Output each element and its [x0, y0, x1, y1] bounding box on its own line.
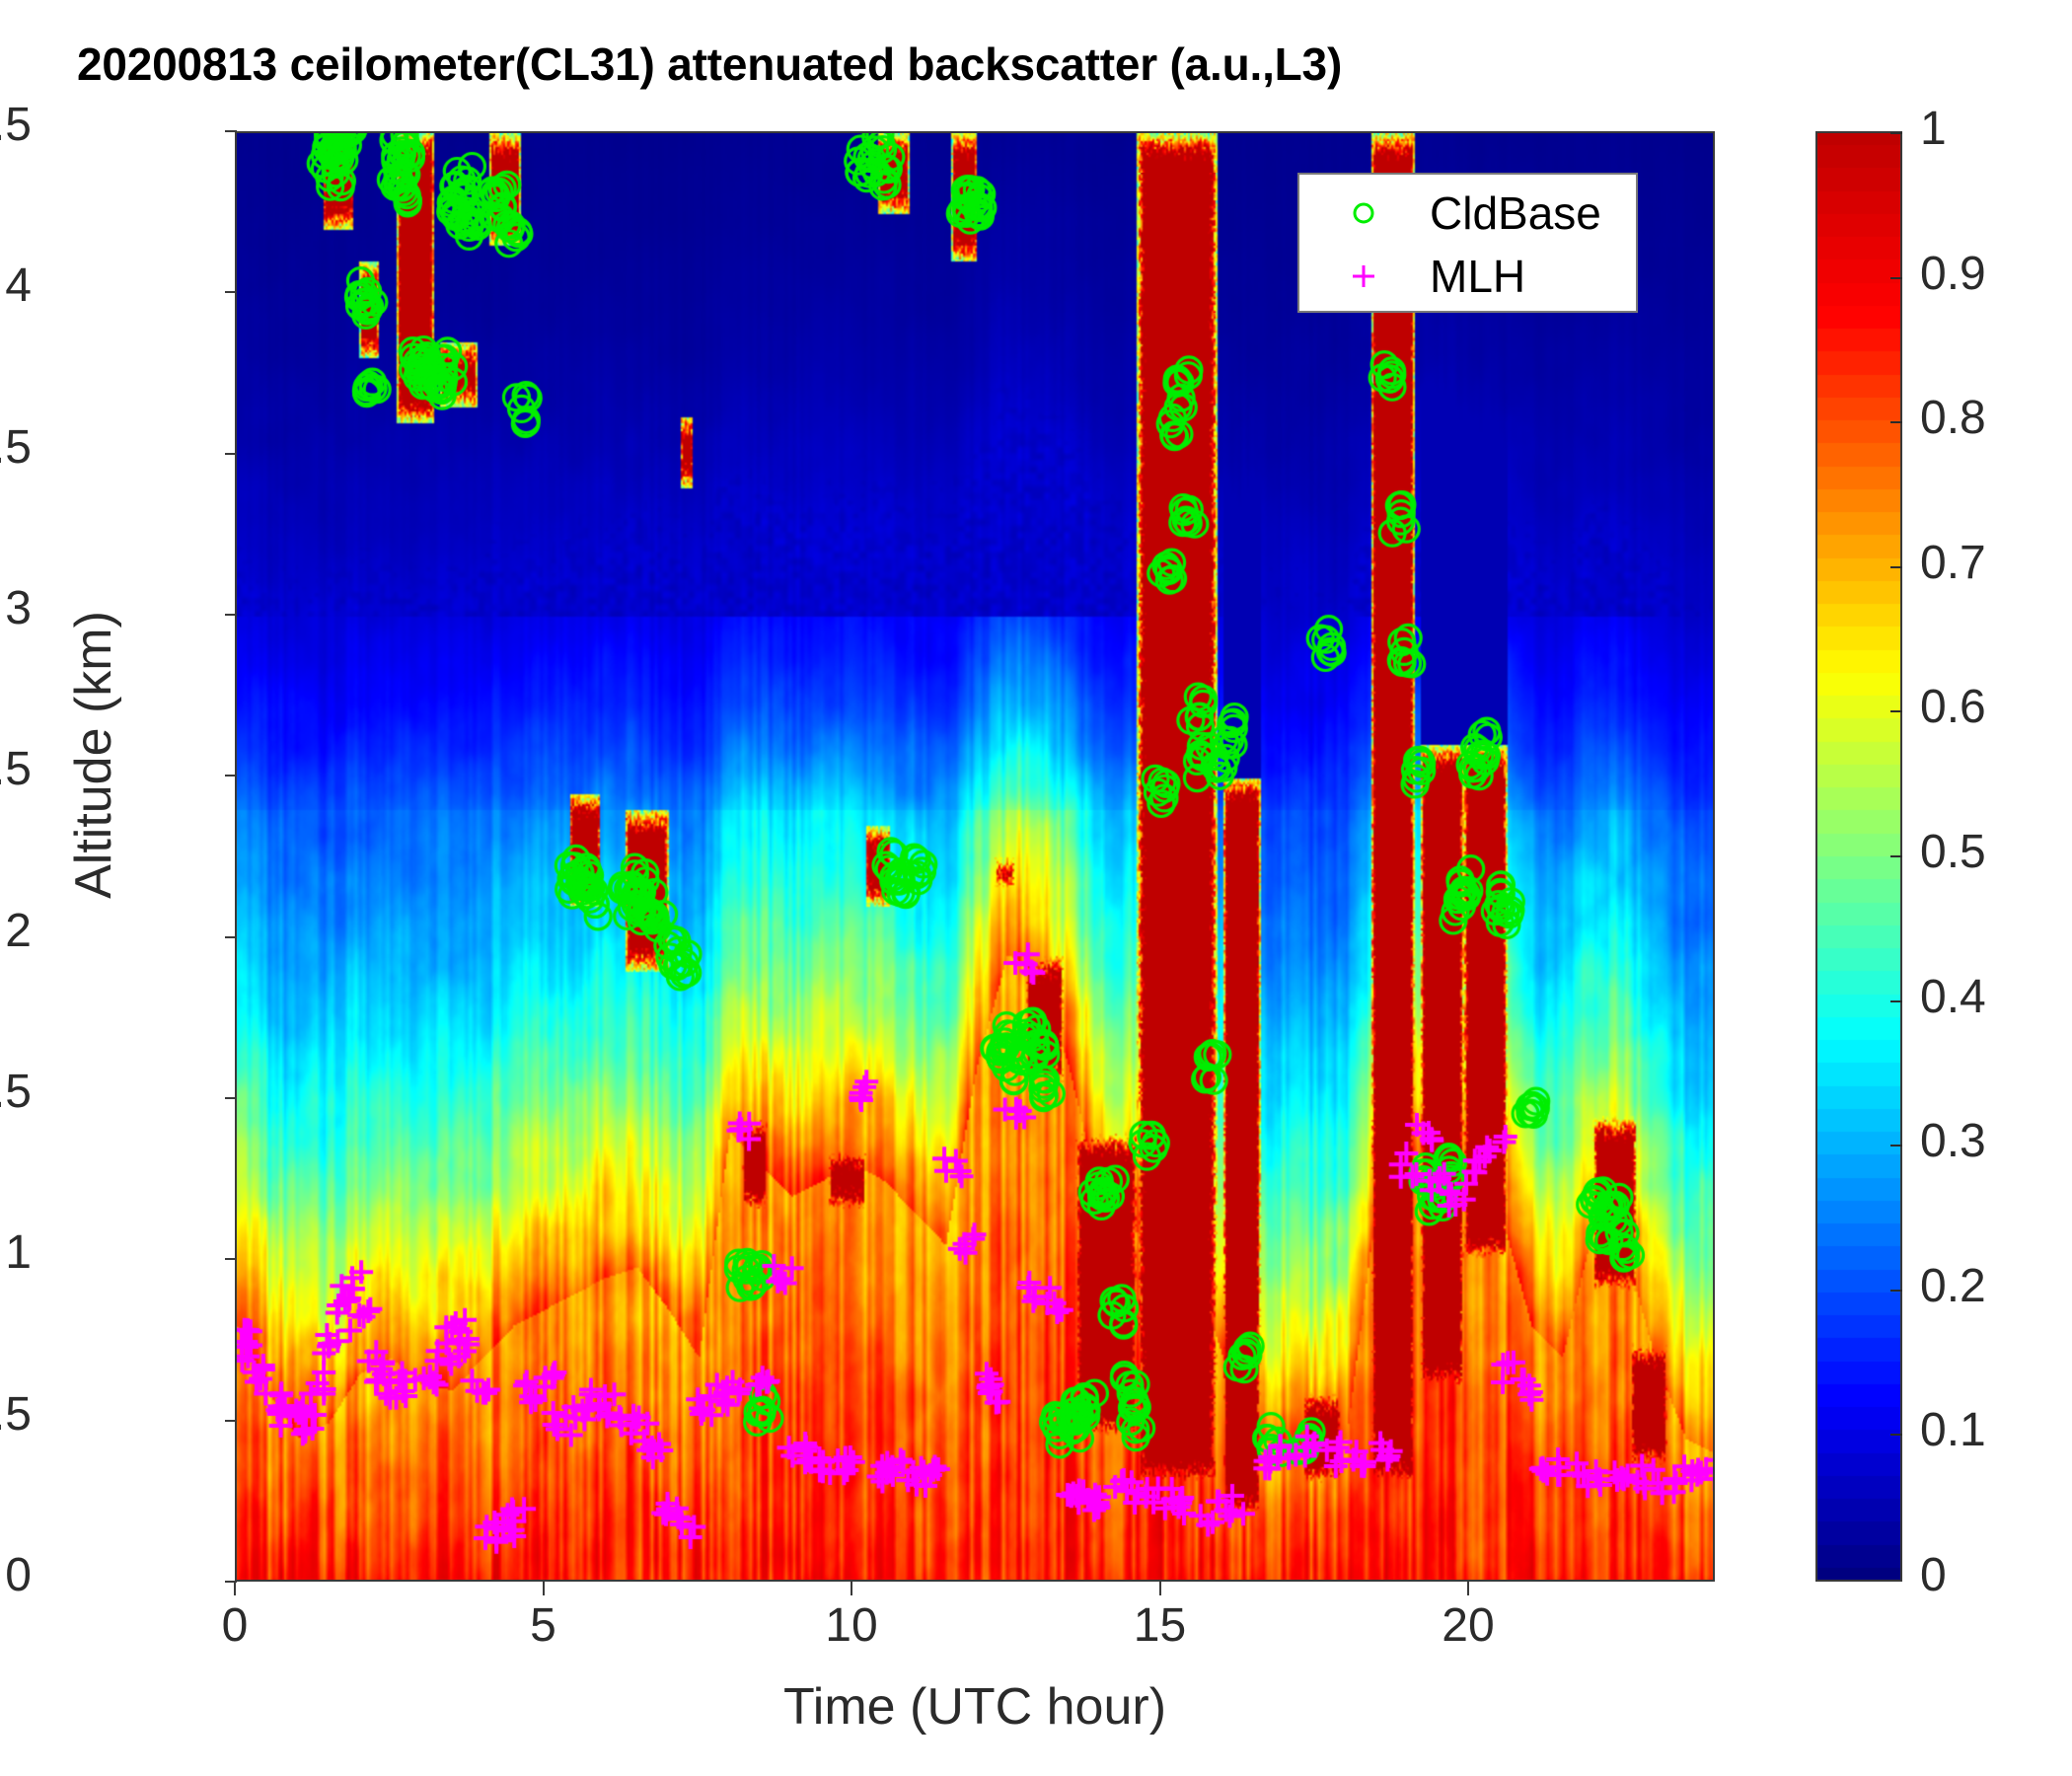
colorbar-tick-mark: [1890, 566, 1902, 568]
colorbar-tick-label: 0.9: [1920, 247, 1986, 301]
legend-entry-cldbase: CldBase: [1299, 183, 1636, 244]
colorbar-tick-label: 0.5: [1920, 825, 1986, 879]
legend-label-cldbase: CldBase: [1430, 186, 1601, 240]
colorbar-tick-label: 0.7: [1920, 536, 1986, 590]
colorbar-tick-mark: [1890, 421, 1902, 423]
colorbar-tick-mark: [1890, 710, 1902, 712]
y-tick-mark: [225, 775, 237, 777]
plus-marker-icon: [1347, 259, 1380, 293]
y-tick-label: 1.5: [0, 1065, 32, 1119]
heatmap-plot-area: [235, 131, 1715, 1582]
colorbar-tick-label: 0.4: [1920, 970, 1986, 1024]
y-tick-label: 1: [5, 1225, 32, 1280]
y-tick-label: 2: [5, 904, 32, 958]
y-tick-mark: [225, 1420, 237, 1422]
x-tick-mark: [234, 1582, 236, 1595]
colorbar-tick-mark: [1890, 1290, 1902, 1292]
y-tick-label: 3: [5, 581, 32, 635]
y-tick-mark: [225, 614, 237, 616]
y-tick-label: 2.5: [0, 742, 32, 796]
y-tick-mark: [225, 291, 237, 293]
x-tick-label: 20: [1409, 1598, 1527, 1653]
y-tick-label: 4.5: [0, 98, 32, 152]
colorbar-tick-label: 0.8: [1920, 391, 1986, 445]
x-tick-mark: [543, 1582, 545, 1595]
colorbar-tick-label: 0.1: [1920, 1403, 1986, 1457]
colorbar-tick-mark: [1890, 132, 1902, 134]
legend-entry-mlh: MLH: [1299, 246, 1636, 307]
colorbar-tick-label: 1: [1920, 102, 1947, 156]
colorbar-tick-label: 0.3: [1920, 1114, 1986, 1168]
legend-label-mlh: MLH: [1430, 250, 1525, 303]
y-tick-mark: [225, 1097, 237, 1099]
y-tick-mark: [225, 453, 237, 455]
x-tick-mark: [851, 1582, 852, 1595]
x-tick-mark: [1467, 1582, 1469, 1595]
colorbar-tick-label: 0: [1920, 1548, 1947, 1602]
colorbar-tick-mark: [1890, 1434, 1902, 1436]
y-tick-mark: [225, 936, 237, 938]
y-tick-label: 3.5: [0, 420, 32, 475]
circle-marker-icon: [1347, 196, 1380, 230]
x-tick-label: 0: [176, 1598, 294, 1653]
page-title: 20200813 ceilometer(CL31) attenuated bac…: [77, 37, 1342, 91]
marker-overlay-canvas: [237, 133, 1715, 1582]
x-tick-label: 5: [484, 1598, 603, 1653]
y-tick-label: 0: [5, 1548, 32, 1602]
y-tick-mark: [225, 130, 237, 132]
x-tick-mark: [1159, 1582, 1161, 1595]
legend-box: CldBase MLH: [1297, 173, 1638, 313]
x-axis-label: Time (UTC hour): [235, 1677, 1715, 1737]
x-tick-label: 15: [1101, 1598, 1220, 1653]
y-axis-label: Altitude (km): [64, 409, 123, 1100]
y-tick-label: 4: [5, 259, 32, 313]
colorbar-gradient: [1817, 133, 1900, 1580]
x-tick-label: 10: [792, 1598, 911, 1653]
colorbar-tick-mark: [1890, 855, 1902, 857]
colorbar-tick-label: 0.6: [1920, 680, 1986, 734]
ceilometer-backscatter-figure: 20200813 ceilometer(CL31) attenuated bac…: [0, 0, 2072, 1776]
y-tick-label: 0.5: [0, 1387, 32, 1442]
colorbar-tick-label: 0.2: [1920, 1259, 1986, 1313]
colorbar-tick-mark: [1890, 1145, 1902, 1147]
colorbar-tick-mark: [1890, 277, 1902, 279]
y-tick-mark: [225, 1258, 237, 1260]
colorbar-tick-mark: [1890, 1000, 1902, 1002]
colorbar: [1815, 131, 1902, 1582]
